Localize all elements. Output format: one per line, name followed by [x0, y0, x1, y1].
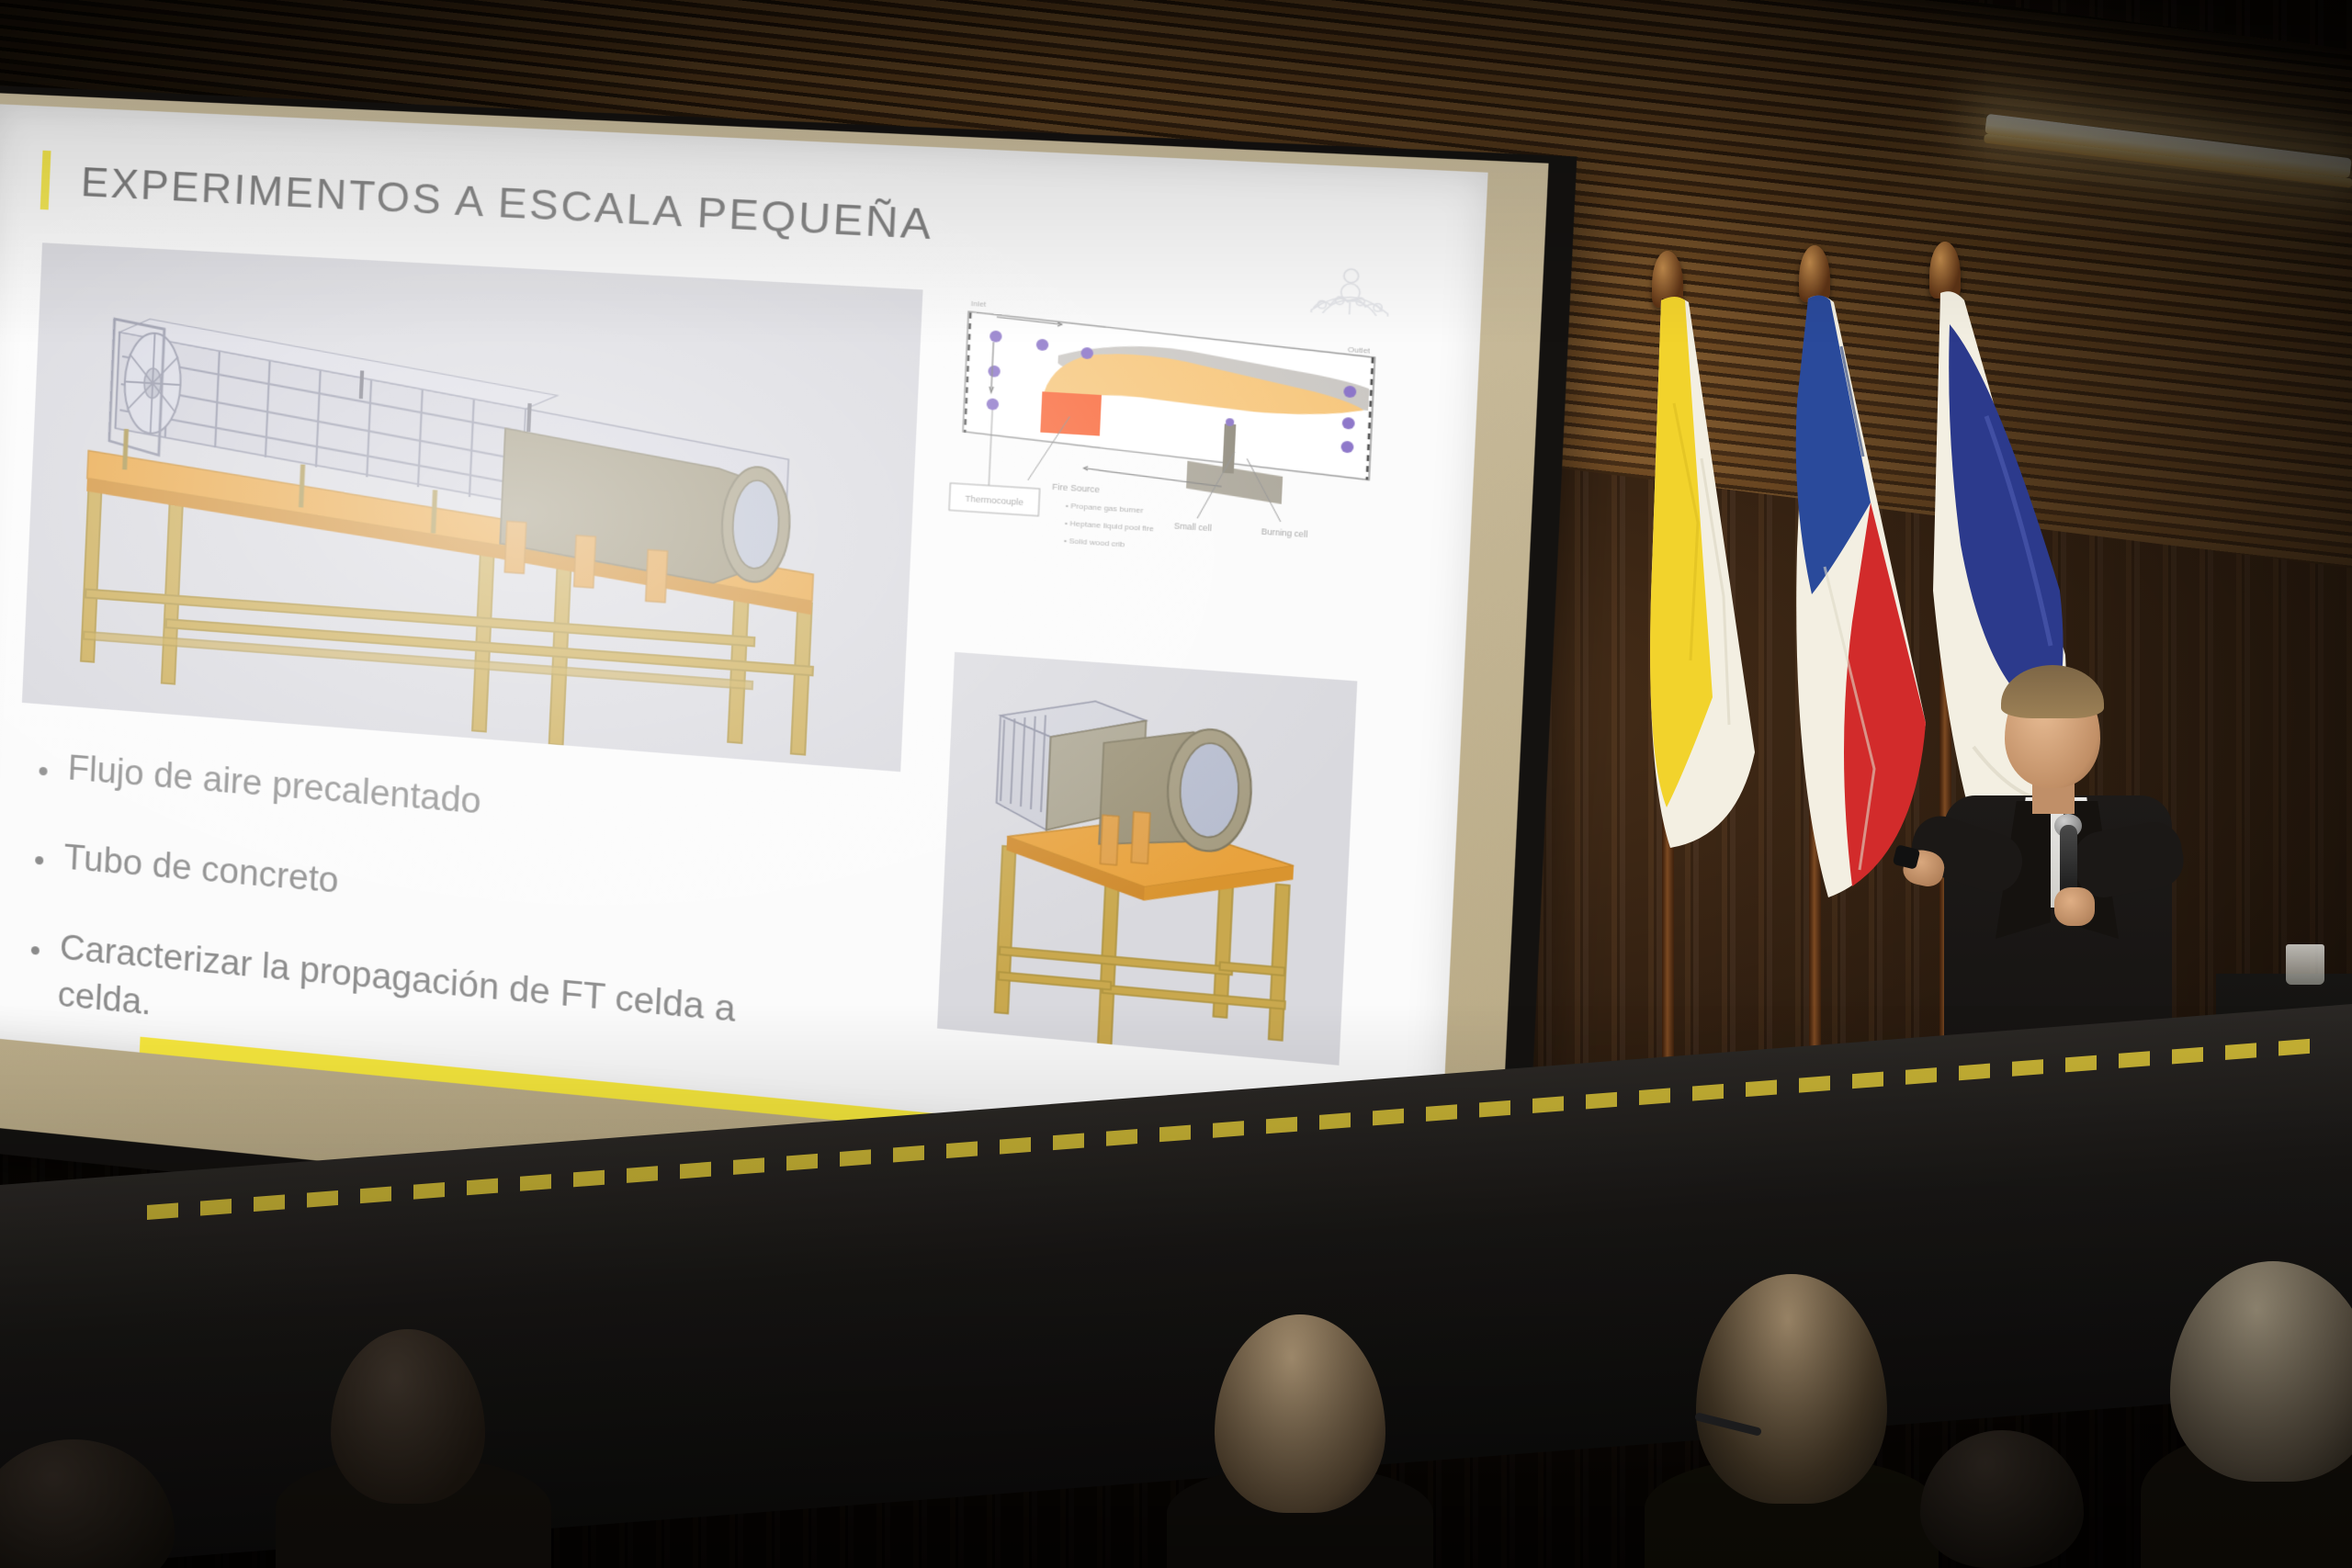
audience-member — [1645, 1311, 1939, 1568]
presenter-hair — [2001, 665, 2104, 718]
bullet-label: Tubo de concreto — [62, 835, 339, 907]
bullet-dot-icon — [31, 945, 40, 954]
slide-title-row: EXPERIMENTOS A ESCALA PEQUEÑA — [40, 151, 935, 255]
title-accent-bar — [40, 151, 51, 210]
label-fire-source: Fire Source — [1052, 481, 1100, 494]
audience-head — [2170, 1261, 2352, 1482]
label-wood-crib: • Solid wood crib — [1064, 536, 1125, 549]
audience-member — [2141, 1292, 2352, 1568]
label-propane-burner: • Propane gas burner — [1066, 502, 1144, 515]
photo-scene: EXPERIMENTOS A ESCALA PEQUEÑA — [0, 0, 2352, 1568]
audience-member — [1167, 1357, 1433, 1568]
label-small-cell: Small cell — [1174, 521, 1213, 533]
water-glass — [2286, 944, 2324, 985]
cad-tunnel-end-view-drawing — [937, 652, 1357, 1066]
audience-member — [0, 1458, 211, 1568]
page-title: EXPERIMENTOS A ESCALA PEQUEÑA — [80, 158, 934, 250]
figure-cad-tunnel-end-view — [937, 652, 1357, 1066]
audience-member — [276, 1393, 551, 1568]
cad-wind-tunnel-drawing — [22, 243, 923, 772]
label-burning-cell: Burning cell — [1261, 526, 1308, 539]
audience-member — [1902, 1439, 2122, 1568]
bullet-label: Flujo de aire precalentado — [67, 745, 482, 827]
fire-propagation-schematic: Thermocouple Fire Source • Propane gas b… — [937, 293, 1396, 623]
presenter-hand-right — [2054, 887, 2095, 926]
presentation-slide: EXPERIMENTOS A ESCALA PEQUEÑA — [0, 104, 1488, 1179]
audience-head — [0, 1439, 175, 1568]
label-inlet: Inlet — [971, 299, 988, 309]
figure-schematic-fire-propagation: Thermocouple Fire Source • Propane gas b… — [937, 293, 1396, 623]
bullet-dot-icon — [35, 856, 43, 865]
audience-head — [1920, 1430, 2084, 1568]
figure-cad-wind-tunnel-bench — [22, 243, 923, 772]
label-outlet: Outlet — [1348, 345, 1372, 355]
bullet-dot-icon — [39, 767, 47, 776]
label-heptane-pool: • Heptane liquid pool fire — [1065, 519, 1155, 534]
